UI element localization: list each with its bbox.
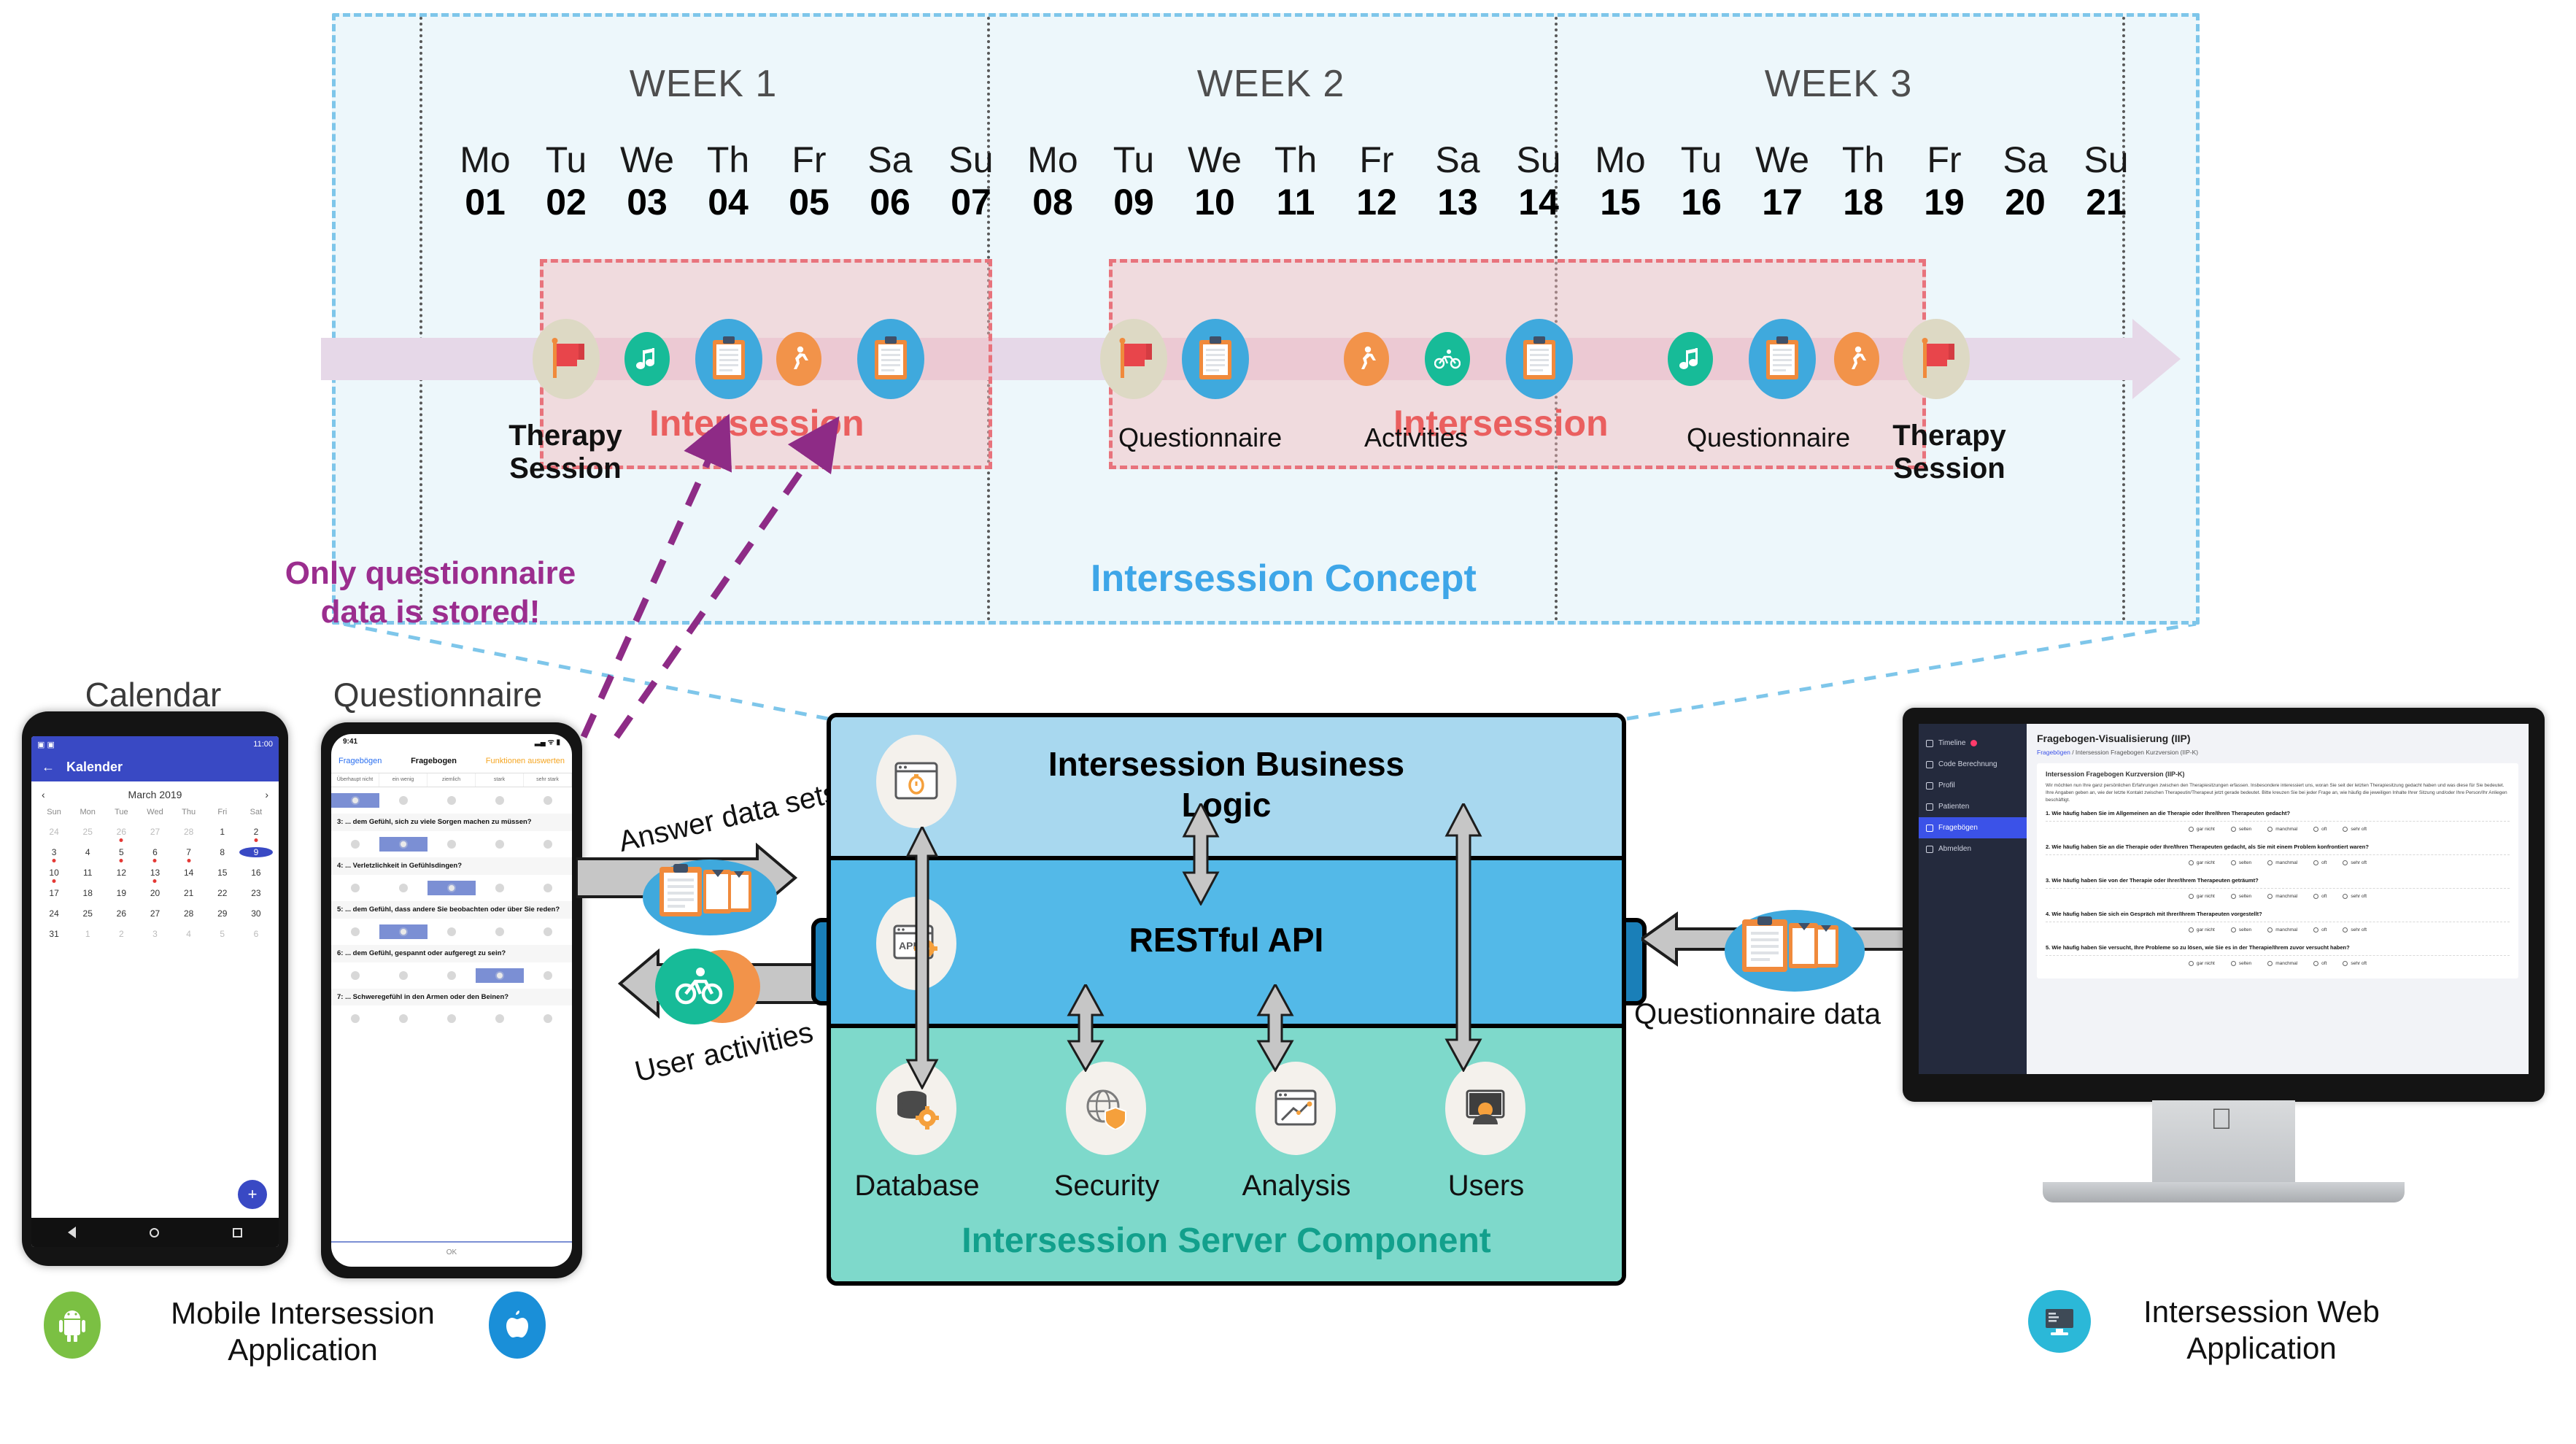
radio-icon <box>495 971 504 980</box>
home-nav-icon[interactable] <box>150 1228 159 1238</box>
likert-option[interactable] <box>428 881 476 895</box>
web-radio-option[interactable]: sehr oft <box>2343 827 2367 832</box>
radio-icon <box>2267 961 2273 966</box>
web-radio-option[interactable]: oft <box>2313 927 2326 933</box>
calendar-day-cell[interactable]: 27 <box>138 908 171 919</box>
running-person-icon[interactable] <box>776 332 821 386</box>
likert-option[interactable] <box>476 924 524 939</box>
calendar-day-cell[interactable]: 5 <box>206 929 239 939</box>
radio-icon <box>495 884 504 892</box>
calendar-day-cell[interactable]: 23 <box>239 888 273 898</box>
web-option-label: sehr oft <box>2351 894 2367 899</box>
likert-scale-label: stark <box>476 773 524 787</box>
calendar-day-cell[interactable]: 3 <box>138 929 171 939</box>
radio-icon <box>447 884 456 892</box>
recents-nav-icon[interactable] <box>233 1228 242 1238</box>
clipboard-icon[interactable] <box>857 319 924 399</box>
back-nav-icon[interactable] <box>68 1227 76 1238</box>
radio-icon <box>447 840 456 849</box>
web-option-label: gar nicht <box>2197 927 2215 933</box>
clipboard-icon[interactable] <box>1182 319 1249 399</box>
web-question-text: 4. Wie häufig haben Sie sich ein Gespräc… <box>2046 911 2510 922</box>
calendar-day-cell[interactable]: 19 <box>104 888 138 898</box>
day-number: 15 <box>1584 179 1657 225</box>
question-text: 4: ... Verletzlichkeit in Gefühlsdingen? <box>331 857 572 875</box>
web-radio-option[interactable]: oft <box>2313 827 2326 832</box>
apple-logo-icon:  <box>2211 1103 2232 1136</box>
calendar-day-cell[interactable]: 5 <box>104 847 138 857</box>
radio-icon <box>544 927 552 936</box>
day-name: Su <box>1502 141 1575 179</box>
web-radio-option[interactable]: oft <box>2313 860 2326 865</box>
android-title: Kalender <box>66 760 123 775</box>
module-label-users: Users <box>1400 1170 1572 1202</box>
status-icons: ▣ ▣ <box>37 740 55 749</box>
likert-option[interactable] <box>476 837 524 852</box>
web-radio-option[interactable]: sehr oft <box>2343 927 2367 933</box>
web-radio-option[interactable]: manchmal <box>2267 860 2297 865</box>
day-name: Sa <box>854 141 927 179</box>
sidebar-item-label: Abmelden <box>1938 845 1971 853</box>
mobile-label-line-2: Application <box>157 1332 449 1368</box>
radio-icon <box>544 884 552 892</box>
questionnaire-list[interactable]: 3: ... dem Gefühl, sich zu viele Sorgen … <box>331 787 572 1032</box>
calendar-day-cell[interactable]: 10 <box>37 868 71 878</box>
day-number: 07 <box>935 179 1007 225</box>
likert-answer-row[interactable] <box>331 787 572 814</box>
likert-answer-row[interactable] <box>331 962 572 989</box>
apple-logo-icon <box>489 1292 546 1359</box>
web-option-label: manchmal <box>2275 927 2297 933</box>
calendar-dow-header: Sun <box>37 808 71 816</box>
radio-icon <box>544 1014 552 1023</box>
likert-scale-label: ziemlich <box>428 773 476 787</box>
likert-option[interactable] <box>476 793 524 808</box>
likert-option[interactable] <box>476 968 524 983</box>
imac-display: TimelineCode BerechnungProfilPatientenFr… <box>1903 708 2545 1102</box>
web-option-label: manchmal <box>2275 860 2297 865</box>
radio-icon <box>2231 894 2236 899</box>
module-label-security: Security <box>1021 1170 1193 1202</box>
web-radio-option[interactable]: selten <box>2231 827 2251 832</box>
web-radio-option[interactable]: manchmal <box>2267 927 2297 933</box>
web-radio-option[interactable]: sehr oft <box>2343 860 2367 865</box>
user-monitor-icon[interactable] <box>1445 1062 1525 1155</box>
likert-option[interactable] <box>524 1011 572 1026</box>
radio-icon <box>2231 927 2236 933</box>
user-activities-bundle-icon <box>642 943 773 1034</box>
therapy-session-flag-icon[interactable] <box>1903 319 1970 399</box>
likert-option[interactable] <box>428 1011 476 1026</box>
likert-option[interactable] <box>379 968 428 983</box>
calendar-day-cell[interactable]: 17 <box>37 888 71 898</box>
web-label-line-1: Intersession Web <box>2108 1294 2415 1330</box>
calendar-dow-header: Sat <box>239 808 273 816</box>
mobile-label-line-1: Mobile Intersession <box>157 1295 449 1332</box>
day-column: Sa 06 <box>854 141 927 225</box>
calendar-day-cell[interactable]: 1 <box>71 929 104 939</box>
ios-time: 9:41 <box>343 738 357 746</box>
concept-title: Intersession Concept <box>1091 557 1477 601</box>
chart-window-icon[interactable] <box>1256 1062 1336 1155</box>
day-column: Mo 15 <box>1584 141 1657 225</box>
web-app-monitor-icon <box>2028 1290 2091 1353</box>
radio-icon <box>544 796 552 805</box>
calendar-day-cell[interactable]: 30 <box>239 908 273 919</box>
likert-option[interactable] <box>524 793 572 808</box>
web-question-list[interactable]: 1. Wie häufig haben Sie im Allgemeinen a… <box>2046 810 2510 971</box>
likert-option[interactable] <box>331 1011 379 1026</box>
likert-option[interactable] <box>331 968 379 983</box>
day-number: 13 <box>1421 179 1494 225</box>
likert-option[interactable] <box>476 1011 524 1026</box>
web-option-row[interactable]: gar nichtseltenmanchmaloftsehr oft <box>2046 888 2510 904</box>
sidebar-item-profil[interactable]: Profil <box>1919 775 2027 796</box>
calendar-day-cell[interactable]: 4 <box>71 847 104 857</box>
radio-icon <box>447 927 456 936</box>
day-column: We 10 <box>1178 141 1251 225</box>
next-month-button[interactable]: › <box>265 789 268 800</box>
web-option-row[interactable]: gar nichtseltenmanchmaloftsehr oft <box>2046 922 2510 938</box>
running-person-icon[interactable] <box>1344 332 1389 386</box>
calendar-day-cell[interactable]: 2 <box>239 827 273 837</box>
day-number: 14 <box>1502 179 1575 225</box>
calendar-dow-header: Mon <box>71 808 104 816</box>
radio-icon <box>399 884 408 892</box>
radio-icon <box>399 971 408 980</box>
timer-window-icon[interactable] <box>876 735 956 828</box>
sidebar-item-frageb-gen[interactable]: Fragebögen <box>1919 817 2027 838</box>
web-radio-option[interactable]: selten <box>2231 961 2251 966</box>
web-radio-option[interactable]: selten <box>2231 894 2251 899</box>
calendar-day-cell[interactable]: 15 <box>206 868 239 878</box>
music-note-icon[interactable] <box>624 332 670 386</box>
radio-icon <box>399 1014 408 1023</box>
sidebar-item-label: Code Berechnung <box>1938 760 1997 768</box>
web-radio-option[interactable]: selten <box>2231 860 2251 865</box>
week-title-1: WEEK 1 <box>419 62 987 106</box>
likert-option[interactable] <box>428 924 476 939</box>
android-app-bar: ← Kalender <box>31 752 279 781</box>
day-column: Fr 12 <box>1340 141 1413 225</box>
radio-icon <box>2231 961 2236 966</box>
calendar-day-cell[interactable]: 26 <box>104 827 138 837</box>
web-question-text: 5. Wie häufig haben Sie versucht, Ihre P… <box>2046 944 2510 955</box>
likert-option[interactable] <box>379 793 428 808</box>
day-number: 06 <box>854 179 927 225</box>
only-questionnaire-note: Only questionnaire data is stored! <box>259 555 602 632</box>
calendar-day-cell[interactable]: 21 <box>172 888 206 898</box>
bicycle-icon[interactable] <box>1425 332 1470 386</box>
day-column: Mo 01 <box>449 141 522 225</box>
questionnaire-caption-1: Questionnaire <box>1118 422 1282 453</box>
music-note-icon[interactable] <box>1668 332 1713 386</box>
radio-icon <box>2343 860 2348 865</box>
week-title-2: WEEK 2 <box>987 62 1555 106</box>
calendar-month-header: ‹ March 2019 › <box>31 781 279 808</box>
radio-icon <box>2343 827 2348 832</box>
calendar-day-cell[interactable]: 6 <box>239 929 273 939</box>
web-option-label: gar nicht <box>2197 860 2215 865</box>
web-radio-option[interactable]: sehr oft <box>2343 961 2367 966</box>
day-number: 16 <box>1665 179 1738 225</box>
questionnaire-data-label: Questionnaire data <box>1634 998 1881 1031</box>
web-option-row[interactable]: gar nichtseltenmanchmaloftsehr oft <box>2046 955 2510 971</box>
calendar-day-cell[interactable]: 26 <box>104 908 138 919</box>
ios-back-button[interactable]: Fragebögen <box>339 757 382 765</box>
profile-icon <box>1926 782 1933 789</box>
web-option-label: oft <box>2321 927 2326 933</box>
web-option-label: oft <box>2321 894 2326 899</box>
web-radio-option[interactable]: gar nicht <box>2189 961 2215 966</box>
calendar-day-cell[interactable]: 6 <box>138 847 171 857</box>
question-text: 6: ... dem Gefühl, gespannt oder aufgere… <box>331 945 572 962</box>
calendar-dow-header: Thu <box>172 808 206 816</box>
calendar-day-cell[interactable]: 22 <box>206 888 239 898</box>
day-number: 19 <box>1908 179 1981 225</box>
calendar-day-cell[interactable]: 24 <box>37 908 71 919</box>
radio-icon <box>2231 860 2236 865</box>
calendar-day-cell[interactable]: 7 <box>172 847 206 857</box>
web-radio-option[interactable]: manchmal <box>2267 894 2297 899</box>
web-radio-option[interactable]: oft <box>2313 894 2326 899</box>
radio-icon <box>544 840 552 849</box>
calendar-day-cell[interactable]: 9 <box>239 847 273 857</box>
sidebar-item-label: Timeline <box>1938 739 1965 747</box>
therapy-line-1: Therapy <box>1892 420 2006 452</box>
timeline-arrowhead-icon <box>2132 319 2181 399</box>
day-column: Tu 09 <box>1097 141 1170 225</box>
day-name: Fr <box>1908 141 1981 179</box>
web-app-screen: TimelineCode BerechnungProfilPatientenFr… <box>1919 724 2529 1074</box>
day-number: 10 <box>1178 179 1251 225</box>
likert-option[interactable] <box>524 968 572 983</box>
likert-scale-header: Überhaupt nichtein wenigziemlichstarkseh… <box>331 773 572 787</box>
arrow-logic-to-users <box>1444 803 1483 1072</box>
prev-month-button[interactable]: ‹ <box>42 789 45 800</box>
day-number: 04 <box>692 179 765 225</box>
likert-option[interactable] <box>379 1011 428 1026</box>
web-option-label: sehr oft <box>2351 827 2367 832</box>
radio-icon <box>544 971 552 980</box>
likert-answer-row[interactable] <box>331 1005 572 1032</box>
web-option-label: manchmal <box>2275 894 2297 899</box>
radio-icon <box>2343 927 2348 933</box>
calendar-day-cell[interactable]: 25 <box>71 827 104 837</box>
therapy-session-start-caption: Therapy Session <box>478 420 653 485</box>
ios-nav-bar: Fragebögen Fragebogen Funktionen auswert… <box>331 749 572 773</box>
calendar-day-cell[interactable]: 31 <box>37 929 71 939</box>
running-person-icon[interactable] <box>1834 332 1879 386</box>
radio-icon <box>447 971 456 980</box>
android-nav-bar <box>31 1218 279 1247</box>
day-name: Th <box>692 141 765 179</box>
note-line-2: data is stored! <box>259 593 602 632</box>
questionnaire-data-bundle-icon <box>1722 903 1868 1002</box>
likert-option[interactable] <box>428 793 476 808</box>
arrow-logic-to-db <box>904 827 940 1089</box>
likert-option[interactable] <box>331 837 379 852</box>
calendar-phone-title: Calendar <box>22 675 285 714</box>
web-option-label: selten <box>2239 860 2251 865</box>
radio-icon <box>351 927 360 936</box>
calendar-day-cell[interactable]: 18 <box>71 888 104 898</box>
web-radio-option[interactable]: gar nicht <box>2189 860 2215 865</box>
day-column: Fr 05 <box>773 141 846 225</box>
calendar-grid[interactable]: SunMonTueWedThuFriSat2425262728123456789… <box>31 808 279 939</box>
back-arrow-icon[interactable]: ← <box>42 760 55 775</box>
card-heading: Intersession Fragebogen Kurzversion (IIP… <box>2046 771 2510 778</box>
radio-icon <box>495 1014 504 1023</box>
likert-option[interactable] <box>331 881 379 895</box>
likert-answer-row[interactable] <box>331 831 572 857</box>
likert-option[interactable] <box>524 837 572 852</box>
likert-option[interactable] <box>379 881 428 895</box>
sidebar-item-code-berechnung[interactable]: Code Berechnung <box>1919 754 2027 775</box>
likert-option[interactable] <box>476 881 524 895</box>
web-breadcrumb: Fragebögen / Intersession Fragebogen Kur… <box>2037 749 2518 756</box>
calendar-day-cell[interactable]: 29 <box>206 908 239 919</box>
likert-option[interactable] <box>524 881 572 895</box>
android-screen: ▣ ▣ 11:00 ← Kalender ‹ March 2019 › SunM… <box>31 736 279 1247</box>
day-name: We <box>1746 141 1819 179</box>
likert-option[interactable] <box>428 837 476 852</box>
web-option-label: oft <box>2321 961 2326 966</box>
day-name: Su <box>2070 141 2143 179</box>
calendar-day-cell[interactable]: 28 <box>172 908 206 919</box>
calendar-day-cell[interactable]: 2 <box>104 929 138 939</box>
calendar-day-cell[interactable]: 3 <box>37 847 71 857</box>
web-option-row[interactable]: gar nichtseltenmanchmaloftsehr oft <box>2046 854 2510 870</box>
calendar-day-cell[interactable]: 25 <box>71 908 104 919</box>
calendar-day-cell[interactable]: 20 <box>138 888 171 898</box>
ios-action-button[interactable]: Funktionen auswerten <box>486 757 565 765</box>
web-radio-option[interactable]: selten <box>2231 927 2251 933</box>
day-name: Mo <box>449 141 522 179</box>
web-radio-option[interactable]: oft <box>2313 961 2326 966</box>
calendar-day-cell[interactable]: 12 <box>104 868 138 878</box>
calendar-day-cell[interactable]: 27 <box>138 827 171 837</box>
intersession-server-component: Intersession Business Logic RESTful API … <box>827 713 1626 1286</box>
android-logo-icon <box>44 1292 101 1359</box>
arrow-api-to-security <box>1066 984 1105 1072</box>
day-column: Fr 19 <box>1908 141 1981 225</box>
web-radio-option[interactable]: gar nicht <box>2189 827 2215 832</box>
therapy-line-2: Session <box>509 452 621 484</box>
web-sidebar[interactable]: TimelineCode BerechnungProfilPatientenFr… <box>1919 724 2027 1074</box>
web-option-row[interactable]: gar nichtseltenmanchmaloftsehr oft <box>2046 821 2510 837</box>
radio-icon <box>2189 860 2194 865</box>
day-name: Tu <box>1097 141 1170 179</box>
form-icon <box>1926 825 1933 832</box>
likert-option[interactable] <box>331 924 379 939</box>
calendar-day-cell[interactable]: 28 <box>172 827 206 837</box>
radio-icon <box>2343 894 2348 899</box>
sidebar-item-abmelden[interactable]: Abmelden <box>1919 838 2027 860</box>
day-name: Mo <box>1584 141 1657 179</box>
likert-scale-label: sehr stark <box>524 773 572 787</box>
likert-option[interactable] <box>379 837 428 852</box>
calendar-day-cell[interactable]: 14 <box>172 868 206 878</box>
web-option-label: selten <box>2239 961 2251 966</box>
sidebar-item-timeline[interactable]: Timeline <box>1919 733 2027 754</box>
ios-status-icons: ▂▄ ᯤ ▮ <box>535 736 560 746</box>
web-option-label: manchmal <box>2275 961 2297 966</box>
therapy-session-flag-icon[interactable] <box>1100 319 1167 399</box>
likert-option[interactable] <box>379 924 428 939</box>
question-text: 7: ... Schweregefühl in den Armen oder d… <box>331 989 572 1006</box>
calendar-day-cell[interactable]: 8 <box>206 847 239 857</box>
web-radio-option[interactable]: gar nicht <box>2189 894 2215 899</box>
day-number: 20 <box>1989 179 2062 225</box>
day-column: Th 11 <box>1259 141 1332 225</box>
ios-footer-button[interactable]: OK <box>331 1241 572 1256</box>
day-number: 18 <box>1827 179 1900 225</box>
likert-option[interactable] <box>524 924 572 939</box>
notification-badge <box>1970 740 1977 746</box>
day-column: Tu 16 <box>1665 141 1738 225</box>
calendar-day-cell[interactable]: 13 <box>138 868 171 878</box>
likert-answer-row[interactable] <box>331 919 572 945</box>
current-month-label: March 2019 <box>128 789 182 800</box>
day-name: Fr <box>1340 141 1413 179</box>
ios-phone: 9:41 ▂▄ ᯤ ▮ Fragebögen Fragebogen Funkti… <box>321 722 582 1278</box>
week-title-3: WEEK 3 <box>1555 62 2122 106</box>
calendar-day-cell[interactable]: 24 <box>37 827 71 837</box>
web-label-line-2: Application <box>2108 1330 2415 1367</box>
globe-shield-icon[interactable] <box>1066 1062 1146 1155</box>
calendar-day-cell[interactable]: 1 <box>206 827 239 837</box>
code-icon <box>1926 761 1933 768</box>
likert-option[interactable] <box>331 793 379 808</box>
likert-answer-row[interactable] <box>331 875 572 901</box>
radio-icon <box>351 840 360 849</box>
ios-nav-title: Fragebogen <box>411 757 457 765</box>
calendar-day-cell[interactable]: 16 <box>239 868 273 878</box>
sidebar-item-patienten[interactable]: Patienten <box>1919 796 2027 817</box>
web-radio-option[interactable]: manchmal <box>2267 827 2297 832</box>
web-option-label: manchmal <box>2275 827 2297 832</box>
web-option-label: selten <box>2239 927 2251 933</box>
day-name: Sa <box>1989 141 2062 179</box>
clipboard-icon[interactable] <box>695 319 762 399</box>
day-name: Tu <box>1665 141 1738 179</box>
day-number: 17 <box>1746 179 1819 225</box>
clipboard-icon[interactable] <box>1506 319 1573 399</box>
therapy-session-flag-icon[interactable] <box>533 319 600 399</box>
module-label-database: Database <box>831 1170 1003 1202</box>
breadcrumb-link[interactable]: Fragebögen <box>2037 749 2070 756</box>
intersession-concept-panel: WEEK 1 WEEK 2 WEEK 3 Mo 01 Tu 02 We 03 T… <box>332 13 2200 625</box>
clipboard-icon[interactable] <box>1749 319 1816 399</box>
add-event-fab[interactable]: + <box>238 1180 267 1209</box>
web-question-text: 2. Wie häufig haben Sie an die Therapie … <box>2046 843 2510 854</box>
likert-option[interactable] <box>428 968 476 983</box>
radio-icon <box>351 971 360 980</box>
radio-icon <box>2267 860 2273 865</box>
web-radio-option[interactable]: sehr oft <box>2343 894 2367 899</box>
web-radio-option[interactable]: manchmal <box>2267 961 2297 966</box>
calendar-day-cell[interactable]: 11 <box>71 868 104 878</box>
calendar-day-cell[interactable]: 4 <box>172 929 206 939</box>
question-text: 5: ... dem Gefühl, dass andere Sie beoba… <box>331 901 572 919</box>
day-column: Sa 20 <box>1989 141 2062 225</box>
web-question-text: 3. Wie häufig haben Sie von der Therapie… <box>2046 877 2510 888</box>
web-radio-option[interactable]: gar nicht <box>2189 927 2215 933</box>
day-column: Tu 02 <box>530 141 603 225</box>
timeline-icon <box>1926 740 1933 747</box>
therapy-session-end-caption: Therapy Session <box>1862 420 2037 485</box>
